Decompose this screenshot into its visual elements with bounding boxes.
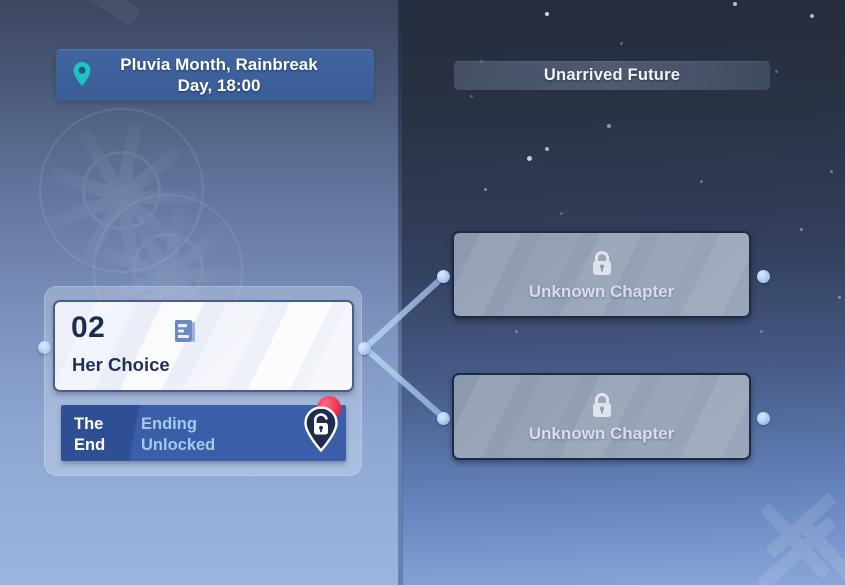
star	[760, 330, 763, 333]
locked-chapter-label: Unknown Chapter	[454, 282, 749, 302]
lock-icon	[590, 392, 614, 418]
connector-node-out-1	[757, 270, 770, 283]
locked-chapter-card[interactable]: Unknown Chapter	[452, 231, 751, 318]
star	[607, 124, 611, 128]
timestamp-text: Pluvia Month, Rainbreak Day, 18:00	[108, 54, 321, 96]
star	[545, 147, 549, 151]
star	[775, 70, 778, 73]
timestamp-line-2: Day, 18:00	[120, 75, 317, 96]
connector-node-locked-1	[437, 270, 450, 283]
ending-tag-line-1: The	[74, 414, 136, 435]
locked-chapter-card[interactable]: Unknown Chapter	[452, 373, 751, 460]
lock-icon	[590, 250, 614, 276]
star	[545, 12, 549, 16]
star	[470, 95, 473, 98]
location-pin-icon	[73, 62, 91, 86]
connector-node-out-2	[757, 412, 770, 425]
star	[810, 14, 814, 18]
timestamp-line-1: Pluvia Month, Rainbreak	[120, 54, 317, 75]
panel-divider	[398, 0, 403, 585]
corner-chevron-ornament	[731, 485, 845, 585]
ending-tag: The End	[74, 414, 136, 456]
chapter-title: Her Choice	[72, 354, 170, 376]
star	[560, 212, 563, 215]
chapter-card-current[interactable]: 02 Her Choice	[53, 300, 354, 392]
ending-tag-line-2: End	[74, 435, 136, 456]
ending-status-text: Ending Unlocked	[141, 414, 215, 456]
connector-node-locked-2	[437, 412, 450, 425]
unlock-pin-icon[interactable]	[303, 406, 339, 452]
book-icon	[174, 319, 196, 343]
star	[700, 180, 703, 183]
timestamp-pill[interactable]: Pluvia Month, Rainbreak Day, 18:00	[56, 49, 374, 101]
star	[620, 42, 623, 45]
unarrived-future-header: Unarrived Future	[454, 61, 770, 90]
story-timeline-screen: Pluvia Month, Rainbreak Day, 18:00 Unarr…	[0, 0, 845, 585]
star	[527, 156, 532, 161]
chapter-number: 02	[71, 311, 105, 345]
star	[733, 2, 737, 6]
ending-status-line-2: Unlocked	[141, 435, 215, 456]
unarrived-future-label: Unarrived Future	[544, 66, 680, 85]
ending-status-line-1: Ending	[141, 414, 215, 435]
locked-chapter-label: Unknown Chapter	[454, 424, 749, 444]
